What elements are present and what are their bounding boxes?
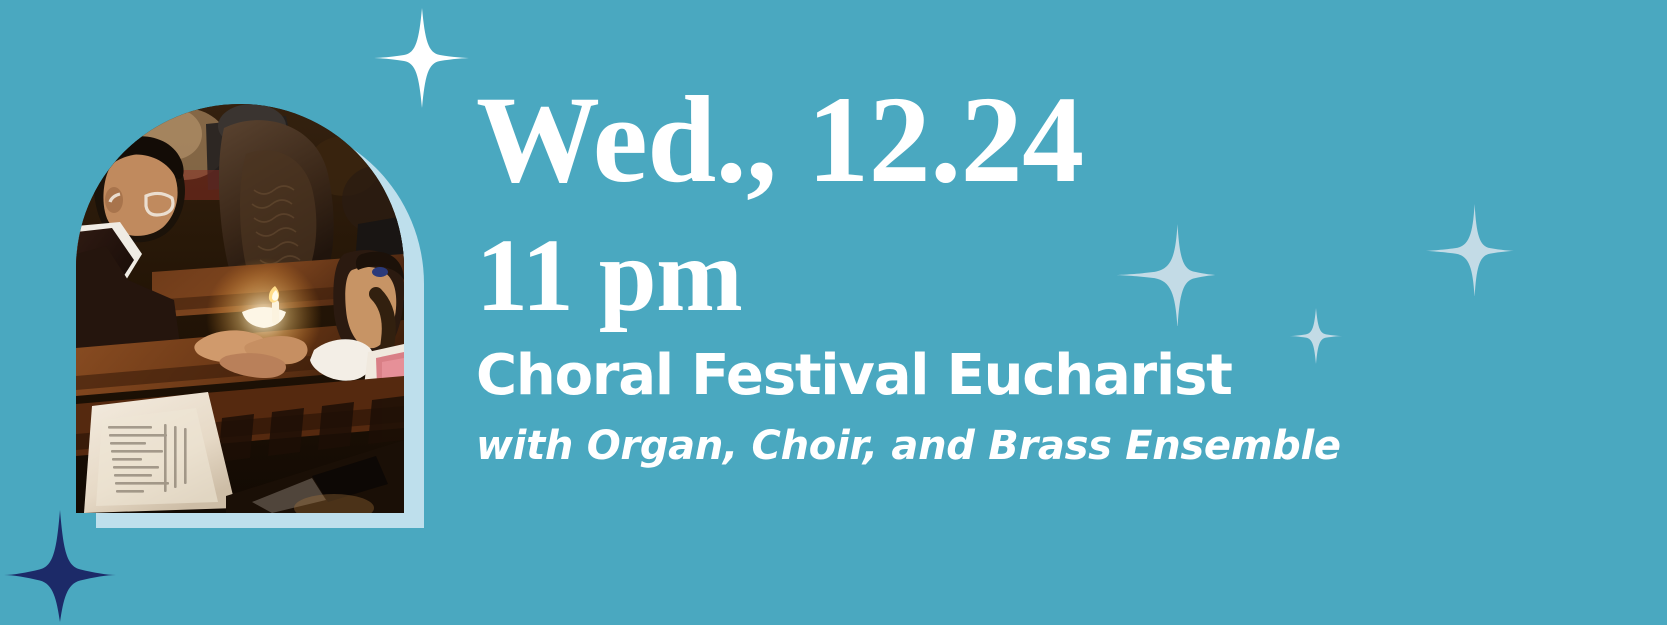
sparkle-top-white-icon (372, 8, 472, 108)
event-banner: Wed., 12.24 11 pm Choral Festival Euchar… (0, 0, 1667, 625)
event-text-block: Wed., 12.24 11 pm Choral Festival Euchar… (476, 78, 1536, 466)
event-date: Wed., 12.24 (476, 78, 1536, 202)
photo-arch-frame (76, 104, 404, 513)
candlelight-service-photo (76, 104, 404, 513)
event-title: Choral Festival Eucharist (476, 348, 1536, 404)
event-time: 11 pm (476, 224, 1536, 328)
event-subtitle: with Organ, Choir, and Brass Ensemble (476, 426, 1536, 466)
photo-group (76, 104, 424, 528)
